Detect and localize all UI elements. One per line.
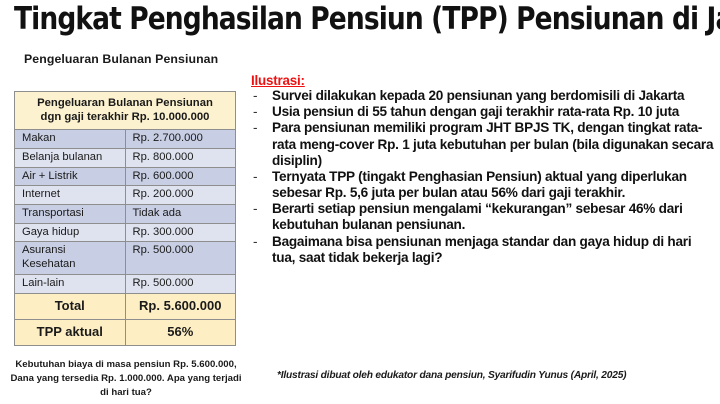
list-item-text: Para pensiunan memiliki program JHT BPJS… [272, 120, 713, 167]
list-item: -Survei dilakukan kepada 20 pensiunan ya… [251, 88, 717, 104]
page-title: Tingkat Penghasilan Pensiun (TPP) Pensiu… [14, 4, 714, 35]
expense-table-body: Pengeluaran Bulanan Pensiunan dgn gaji t… [15, 92, 236, 346]
list-item: -Ternyata TPP (tingakt Penghasian Pensiu… [251, 169, 717, 201]
table-row: Gaya hidup Rp. 300.000 [15, 223, 236, 242]
table-header-row: Pengeluaran Bulanan Pensiunan dgn gaji t… [15, 92, 236, 130]
list-item: -Berarti setiap pensiun mengalami “kekur… [251, 201, 717, 233]
expense-table: Pengeluaran Bulanan Pensiunan dgn gaji t… [14, 91, 236, 346]
row-value: Tidak ada [125, 204, 236, 223]
table-row: Asuransi Kesehatan Rp. 500.000 [15, 242, 236, 275]
row-value: Rp. 200.000 [125, 186, 236, 205]
bullet-dash-icon: - [253, 201, 257, 217]
list-item: -Bagaimana bisa pensiunan menjaga standa… [251, 234, 717, 266]
table-row: Transportasi Tidak ada [15, 204, 236, 223]
table-header-line2: dgn gaji terakhir Rp. 10.000.000 [41, 111, 210, 123]
table-total-row: Total Rp. 5.600.000 [15, 293, 236, 319]
bullet-dash-icon: - [253, 234, 257, 250]
row-label: Internet [15, 186, 126, 205]
list-item-text: Survei dilakukan kepada 20 pensiunan yan… [272, 88, 684, 103]
table-row: Makan Rp. 2.700.000 [15, 130, 236, 149]
subtitle: Pengeluaran Bulanan Pensiunan [24, 52, 218, 66]
list-item: -Para pensiunan memiliki program JHT BPJ… [251, 120, 717, 169]
row-label: Transportasi [15, 204, 126, 223]
table-row: Belanja bulanan Rp. 800.000 [15, 148, 236, 167]
table-row: Air + Listrik Rp. 600.000 [15, 167, 236, 186]
tpp-value: 56% [125, 319, 236, 345]
list-item-text: Bagaimana bisa pensiunan menjaga standar… [272, 234, 691, 265]
total-label: Total [15, 293, 126, 319]
row-label: Belanja bulanan [15, 148, 126, 167]
tpp-label: TPP aktual [15, 319, 126, 345]
row-value: Rp. 300.000 [125, 223, 236, 242]
table-tpp-row: TPP aktual 56% [15, 319, 236, 345]
row-value: Rp. 800.000 [125, 148, 236, 167]
row-value: Rp. 2.700.000 [125, 130, 236, 149]
bullet-dash-icon: - [253, 88, 257, 104]
table-header-cell: Pengeluaran Bulanan Pensiunan dgn gaji t… [15, 92, 236, 130]
row-label: Air + Listrik [15, 167, 126, 186]
list-item: -Usia pensiun di 55 tahun dengan gaji te… [251, 104, 717, 120]
bullet-dash-icon: - [253, 120, 257, 136]
list-item-text: Usia pensiun di 55 tahun dengan gaji ter… [272, 104, 679, 119]
list-item-text: Berarti setiap pensiun mengalami “kekura… [272, 201, 683, 232]
bullet-dash-icon: - [253, 169, 257, 185]
illustration-heading: Ilustrasi: [251, 73, 305, 88]
row-label: Lain-lain [15, 275, 126, 294]
row-value: Rp. 500.000 [125, 275, 236, 294]
table-row: Internet Rp. 200.000 [15, 186, 236, 205]
expense-table-element: Pengeluaran Bulanan Pensiunan dgn gaji t… [14, 91, 236, 346]
row-label: Asuransi Kesehatan [15, 242, 126, 275]
table-header-line1: Pengeluaran Bulanan Pensiunan [37, 97, 213, 109]
row-value: Rp. 600.000 [125, 167, 236, 186]
row-label: Makan [15, 130, 126, 149]
footnote: *Ilustrasi dibuat oleh edukator dana pen… [277, 370, 626, 381]
illustration-list: -Survei dilakukan kepada 20 pensiunan ya… [251, 88, 717, 266]
row-value: Rp. 500.000 [125, 242, 236, 275]
list-item-text: Ternyata TPP (tingakt Penghasian Pensiun… [272, 169, 687, 200]
bullet-dash-icon: - [253, 104, 257, 120]
row-label: Gaya hidup [15, 223, 126, 242]
table-row: Lain-lain Rp. 500.000 [15, 275, 236, 294]
total-value: Rp. 5.600.000 [125, 293, 236, 319]
table-caption: Kebutuhan biaya di masa pensiun Rp. 5.60… [10, 358, 242, 400]
